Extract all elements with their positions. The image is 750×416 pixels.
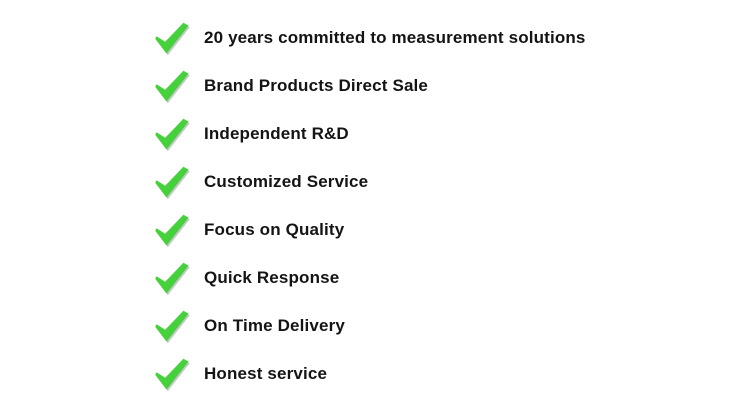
list-item-label: Focus on Quality bbox=[204, 221, 344, 240]
check-mark-icon bbox=[154, 68, 202, 104]
advantages-list: 20 years committed to measurement soluti… bbox=[0, 0, 750, 416]
list-item: On Time Delivery bbox=[0, 302, 750, 350]
check-mark-icon bbox=[154, 116, 202, 152]
check-mark-icon bbox=[154, 20, 202, 56]
check-mark-icon bbox=[154, 212, 202, 248]
list-item: Focus on Quality bbox=[0, 206, 750, 254]
check-mark-icon bbox=[154, 260, 202, 296]
list-item-label: 20 years committed to measurement soluti… bbox=[204, 29, 586, 48]
list-item: 20 years committed to measurement soluti… bbox=[0, 14, 750, 62]
list-item: Customized Service bbox=[0, 158, 750, 206]
list-item-label: Honest service bbox=[204, 365, 327, 384]
list-item: Independent R&D bbox=[0, 110, 750, 158]
list-item-label: On Time Delivery bbox=[204, 317, 345, 336]
list-item: Quick Response bbox=[0, 254, 750, 302]
check-mark-icon bbox=[154, 308, 202, 344]
list-item-label: Brand Products Direct Sale bbox=[204, 77, 428, 96]
list-item-label: Customized Service bbox=[204, 173, 368, 192]
list-item: Honest service bbox=[0, 350, 750, 398]
list-item-label: Quick Response bbox=[204, 269, 339, 288]
list-item-label: Independent R&D bbox=[204, 125, 349, 144]
list-item: Brand Products Direct Sale bbox=[0, 62, 750, 110]
check-mark-icon bbox=[154, 356, 202, 392]
check-mark-icon bbox=[154, 164, 202, 200]
